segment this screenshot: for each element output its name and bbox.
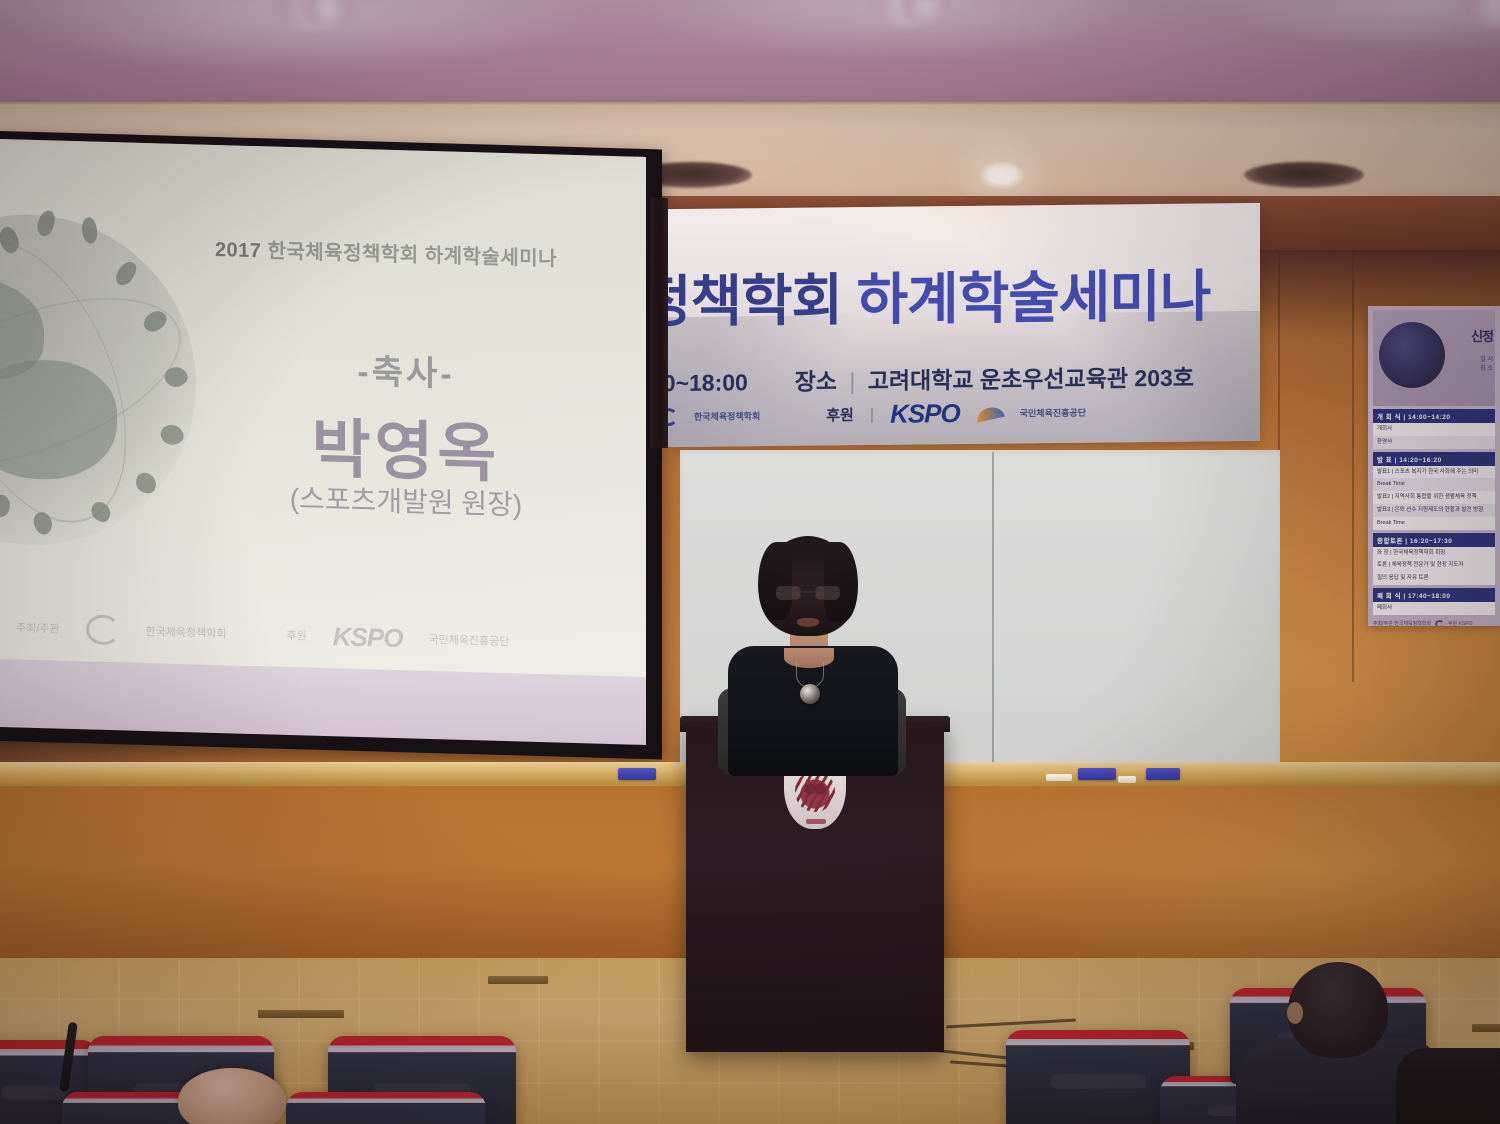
whiteboard-seam (992, 452, 994, 764)
poster-row: 발표1 | 스포츠 복지가 한국 사회에 주는 의미 (1373, 466, 1495, 479)
slide-title-rest: 한국체육정책학회 하계학술세미나 (268, 240, 558, 270)
eraser-item[interactable] (1146, 768, 1180, 780)
speaker-mouth (797, 618, 819, 627)
auditorium-photo-scene: 2017 한국체육정책학회 하계학술세미나 -축사- 박영옥 (스포츠개발원 원… (0, 0, 1500, 1124)
crest-scroll (806, 819, 826, 824)
banner-time: 00~18:00 (668, 369, 748, 396)
poster-footer: 주최/주관 한국체육정책학회 후원 KSPO (1373, 620, 1495, 626)
slide: 2017 한국체육정책학회 하계학술세미나 -축사- 박영옥 (스포츠개발원 원… (0, 139, 646, 677)
downlight-icon (1244, 162, 1364, 188)
poster-row: 좌 장 | 한국체육정책학회 회장 (1373, 547, 1495, 560)
pendant-necklace-icon (800, 684, 820, 704)
poster-row: 환영사 (1373, 436, 1495, 449)
audience-person-ear (1287, 1002, 1303, 1024)
banner-headline-left: 정책학회 (668, 268, 842, 333)
floor-vent (488, 976, 548, 984)
poster-globe-icon (1379, 322, 1445, 388)
poster-row: 질의 응답 및 자유 토론 (1373, 572, 1495, 585)
host-logo-icon (86, 614, 120, 645)
speaker-hair-left (758, 542, 792, 620)
poster-row: 토론 | 체육정책 전문가 및 현장 지도자 (1373, 559, 1495, 572)
floor-vent (258, 1010, 344, 1018)
program-poster: 신정 일 시 장 소 개 회 식 | 14:00~14:20 개회사 환영사 발… (1368, 306, 1500, 626)
poster-row: 폐회사 (1373, 602, 1495, 615)
floor-vent (1472, 1024, 1500, 1032)
banner-headline-right: 하계학술세미나 (857, 264, 1211, 331)
kspo-logo-icon: KSPO (333, 621, 403, 654)
poster-section-header: 발 표 | 14:20~16:20 (1373, 452, 1495, 466)
poster-row: 발표2 | 지역사회 통합을 위한 생활체육 정책 (1373, 491, 1495, 504)
chalk-item[interactable] (1046, 774, 1072, 781)
slide-logo-row: 주최/주관 한국체육정책학회 후원 KSPO 국민체육진흥공단 (16, 604, 616, 667)
slide-host-org: 한국체육정책학회 (146, 623, 227, 641)
screen-edge-post (650, 198, 668, 448)
wall-seam (1300, 250, 1500, 252)
poster-section-header: 개 회 식 | 14:00~14:20 (1373, 409, 1495, 423)
projection-screen-surface: 2017 한국체육정책학회 하계학술세미나 -축사- 박영옥 (스포츠개발원 원… (0, 139, 646, 745)
slide-sponsor-label: 후원 (287, 627, 307, 644)
audience-person-head (1288, 962, 1388, 1058)
poster-footer-sponsor: 후원 KSPO (1448, 620, 1472, 626)
poster-subtitle-line2: 장 소 (1480, 365, 1493, 374)
poster-section-header: 종합토론 | 16:20~17:30 (1373, 533, 1495, 547)
poster-footer-host: 주최/주관 한국체육정책학회 (1373, 620, 1431, 626)
slide-title-year: 2017 (215, 239, 262, 262)
banner-place-value: 고려대학교 운초우선교육관 203호 (868, 365, 1194, 394)
poster-subtitle: 일 시 장 소 (1480, 356, 1493, 374)
poster-row: Break Time (1373, 478, 1495, 491)
event-banner: 정책학회 하계학술세미나 00~18:00 장소 | 고려대학교 운초우선교육관… (668, 203, 1260, 447)
poster-hero: 신정 일 시 장 소 (1373, 310, 1495, 406)
auditorium-seat[interactable] (286, 1092, 486, 1124)
audience-bag (1396, 1048, 1500, 1124)
poster-section-header: 폐 회 식 | 17:40~18:00 (1373, 588, 1495, 602)
banner-kspo-logo-icon: KSPO (890, 398, 960, 430)
poster-row: 발표3 | 은퇴 선수 지원제도의 현황과 발전 방향 (1373, 504, 1495, 517)
poster-host-logo-icon (1435, 620, 1444, 626)
slide-title: 2017 한국체육정책학회 하계학술세미나 (176, 232, 596, 273)
banner-sponsor-org-sub: 국민체육진흥공단 (1020, 406, 1086, 420)
banner-detail-line: 00~18:00 장소 | 고려대학교 운초우선교육관 203호 (668, 358, 1260, 399)
cable (946, 1019, 1076, 1029)
banner-sponsor-label: 후원 (826, 404, 854, 425)
slide-host-label: 주최/주관 (16, 619, 60, 636)
banner-logo-row: 한국체육정책학회 후원 | KSPO 국민체육진흥공단 (668, 395, 1260, 433)
ceiling-upper (0, 0, 1500, 108)
banner-place-label: 장소 (795, 368, 837, 394)
projection-screen: 2017 한국체육정책학회 하계학술세미나 -축사- 박영옥 (스포츠개발원 원… (0, 131, 662, 760)
kspo-swoosh-icon (975, 404, 1005, 422)
slide-sponsor-org-sub: 국민체육진흥공단 (428, 631, 509, 649)
eraser-item[interactable] (1078, 768, 1116, 780)
chalk-item[interactable] (1118, 776, 1136, 783)
banner-headline: 정책학회 하계학술세미나 (668, 251, 1260, 339)
eraser-item[interactable] (618, 768, 656, 780)
slide-section-label: -축사- (216, 340, 596, 400)
poster-title: 신정 (1471, 326, 1493, 345)
poster-row: 개회사 (1373, 423, 1495, 436)
poster-subtitle-line1: 일 시 (1480, 356, 1493, 365)
downlight-lit-icon (978, 160, 1026, 190)
eyeglasses-icon (776, 586, 840, 600)
banner-host-org: 한국체육정책학회 (694, 409, 760, 423)
wall-seam (1352, 252, 1354, 682)
tiger-emblem-icon (795, 772, 835, 812)
poster-row: Break Time (1373, 517, 1495, 530)
banner-host-logo-icon (668, 407, 678, 425)
